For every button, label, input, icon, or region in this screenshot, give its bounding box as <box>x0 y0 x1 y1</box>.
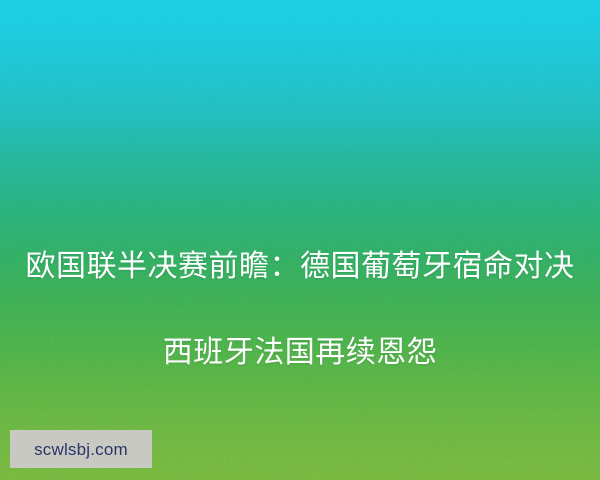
page-title: 欧国联半决赛前瞻：德国葡萄牙宿命对决 西班牙法国再续恩怨 <box>0 202 600 417</box>
page-title-line-1: 欧国联半决赛前瞻：德国葡萄牙宿命对决 <box>8 245 592 288</box>
preview-card: 欧国联半决赛前瞻：德国葡萄牙宿命对决 西班牙法国再续恩怨 scwlsbj.com <box>0 0 600 480</box>
watermark-badge: scwlsbj.com <box>10 430 152 468</box>
page-title-line-2: 西班牙法国再续恩怨 <box>8 331 592 374</box>
watermark-domain-label: scwlsbj.com <box>34 441 128 458</box>
